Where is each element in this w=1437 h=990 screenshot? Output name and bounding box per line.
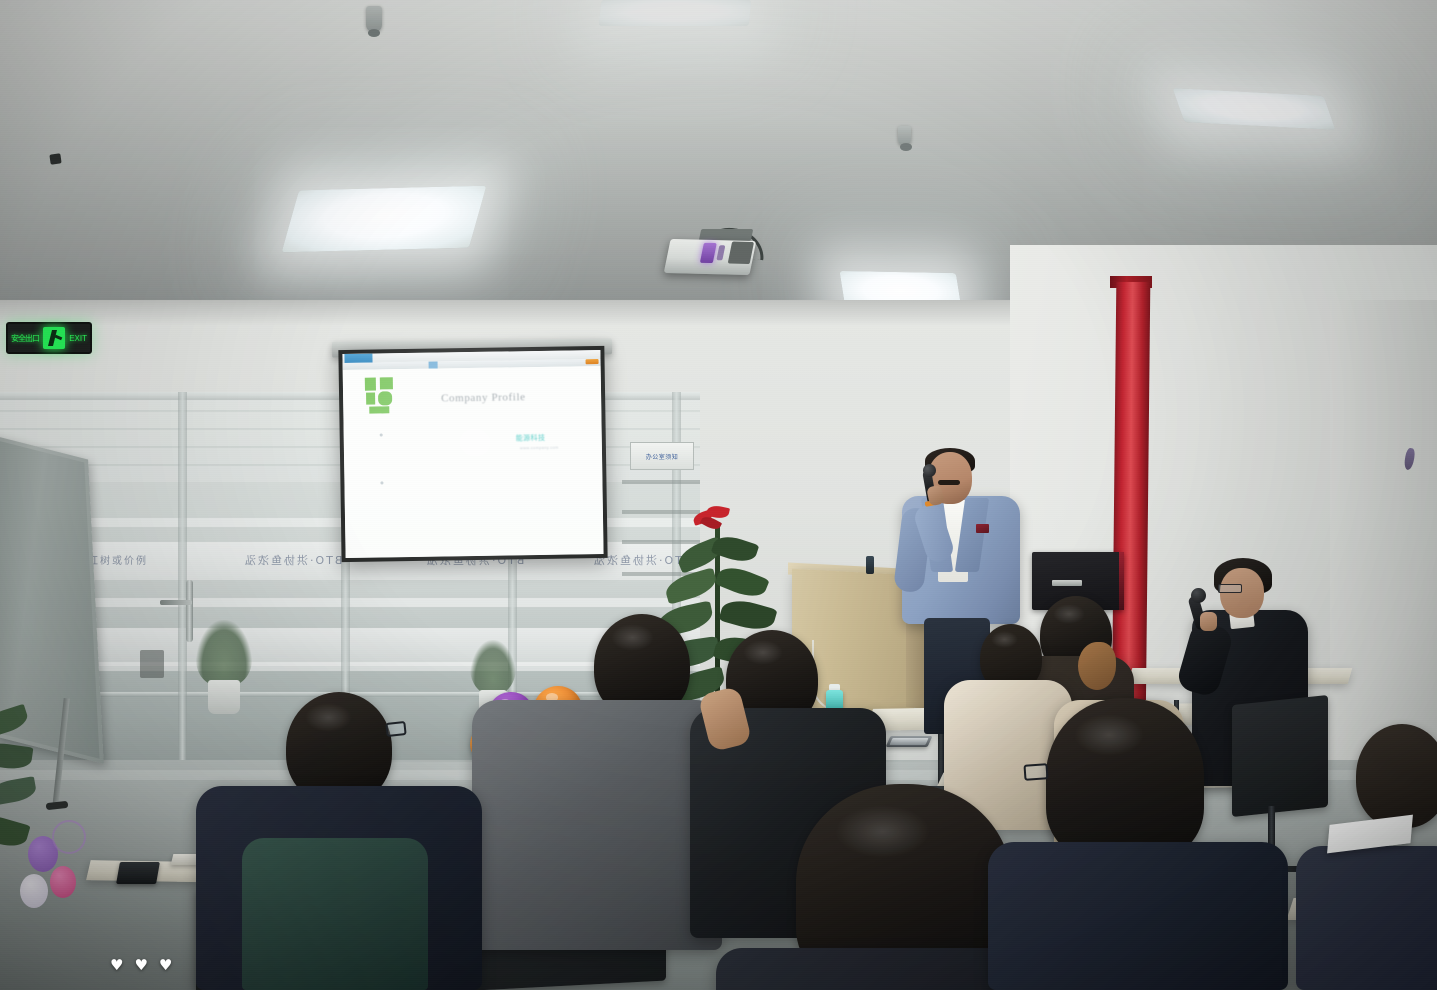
panel-slot (1052, 580, 1082, 586)
glasses-icon (1023, 763, 1048, 781)
hair-highlight (305, 703, 352, 732)
mic-holder-hand (1200, 612, 1217, 631)
running-man-icon (43, 327, 65, 349)
decor-balloon-white (20, 874, 48, 908)
glasses-icon (1218, 584, 1242, 593)
conference-room-photo: 安全出口 EXIT 红树或价例 BTO·洪协鱼浓泓 B (0, 0, 1437, 990)
hair-highlight (991, 631, 1018, 649)
podium-device (866, 556, 874, 574)
presenter-moustache (938, 480, 960, 485)
slide-bullet-1 (380, 433, 383, 436)
projector-body (728, 242, 754, 265)
projector-lens-icon (700, 243, 717, 263)
interior-plant-pot (208, 680, 240, 714)
hair-highlight (1053, 604, 1085, 624)
audience-far-right-edge (1296, 846, 1437, 990)
green-chair-back (242, 838, 428, 990)
office-notice-label: 办公室须知 (646, 452, 679, 461)
projector-secondary-lens (716, 245, 725, 260)
mic-holder-head (1220, 568, 1264, 618)
sprinkler-head-left (366, 6, 382, 32)
hair-highlight (1074, 714, 1144, 756)
audience-ponytail (1078, 642, 1116, 690)
foliage-leaf (0, 811, 31, 851)
black-office-chair[interactable] (1232, 695, 1328, 817)
interior-plant-foliage (196, 620, 252, 686)
audience-right-navy (988, 842, 1288, 990)
slide-subtext: www.company.com (520, 445, 559, 451)
emergency-exit-sign: 安全出口 EXIT (6, 322, 92, 354)
interior-potted-plant-1 (196, 618, 252, 714)
presenter-pocket-square (976, 524, 989, 533)
plant-leaf (718, 595, 777, 635)
easel-clamp-knob (49, 153, 61, 164)
green-company-logo (363, 377, 398, 416)
glass-door-handle[interactable] (186, 580, 193, 642)
panel-light-front-left (282, 186, 487, 253)
smartphone-screen (889, 738, 928, 745)
glass-door-push-bar[interactable] (160, 600, 192, 605)
slide-content-area: Company Profile 能源科技 www.company.com (343, 366, 604, 558)
glasses-icon (385, 721, 406, 737)
wall-logo-ring-icon (52, 820, 86, 854)
slide-title: Company Profile (441, 391, 526, 404)
smartphone-on-table (886, 736, 933, 747)
glass-etching-text-1: BTO·洪协鱼浓泓 (243, 552, 342, 568)
foliage-leaf (0, 776, 38, 806)
red-flower (693, 506, 735, 532)
ceiling-projector (664, 239, 756, 275)
sprinkler-head-center (898, 126, 911, 146)
slide-bullet-2 (380, 481, 383, 484)
office-shelf-1 (622, 480, 700, 484)
close-icon[interactable] (586, 359, 599, 364)
microphone-head-icon (1191, 588, 1206, 603)
hair-highlight (835, 805, 930, 859)
audience-far-right-head (1356, 724, 1437, 828)
plant-leaf (663, 567, 720, 604)
panel-light-top-center (599, 0, 752, 26)
foliage-leaf (0, 704, 30, 739)
device-on-left-table (116, 862, 160, 884)
hair-highlight (611, 624, 653, 651)
exit-sign-chinese-label: 安全出口 (11, 333, 39, 344)
office-notice-board: 办公室须知 (630, 442, 694, 470)
slide-accent-text: 能源科技 (516, 433, 546, 443)
audience-gray-sweater (472, 700, 722, 950)
slide-app-tab[interactable] (344, 354, 372, 363)
foliage-leaf (0, 740, 33, 771)
exit-sign-english-label: EXIT (69, 334, 87, 343)
panel-red-edge (1119, 552, 1124, 610)
hair-highlight (743, 640, 783, 665)
audience-right-navy-head (1046, 698, 1204, 860)
plant-leaf (714, 562, 769, 603)
projection-screen: Company Profile 能源科技 www.company.com (338, 346, 607, 562)
decor-balloon-pink (50, 866, 76, 898)
projection-screen-surface: Company Profile 能源科技 www.company.com (342, 350, 603, 558)
interior-box-object (140, 650, 164, 678)
